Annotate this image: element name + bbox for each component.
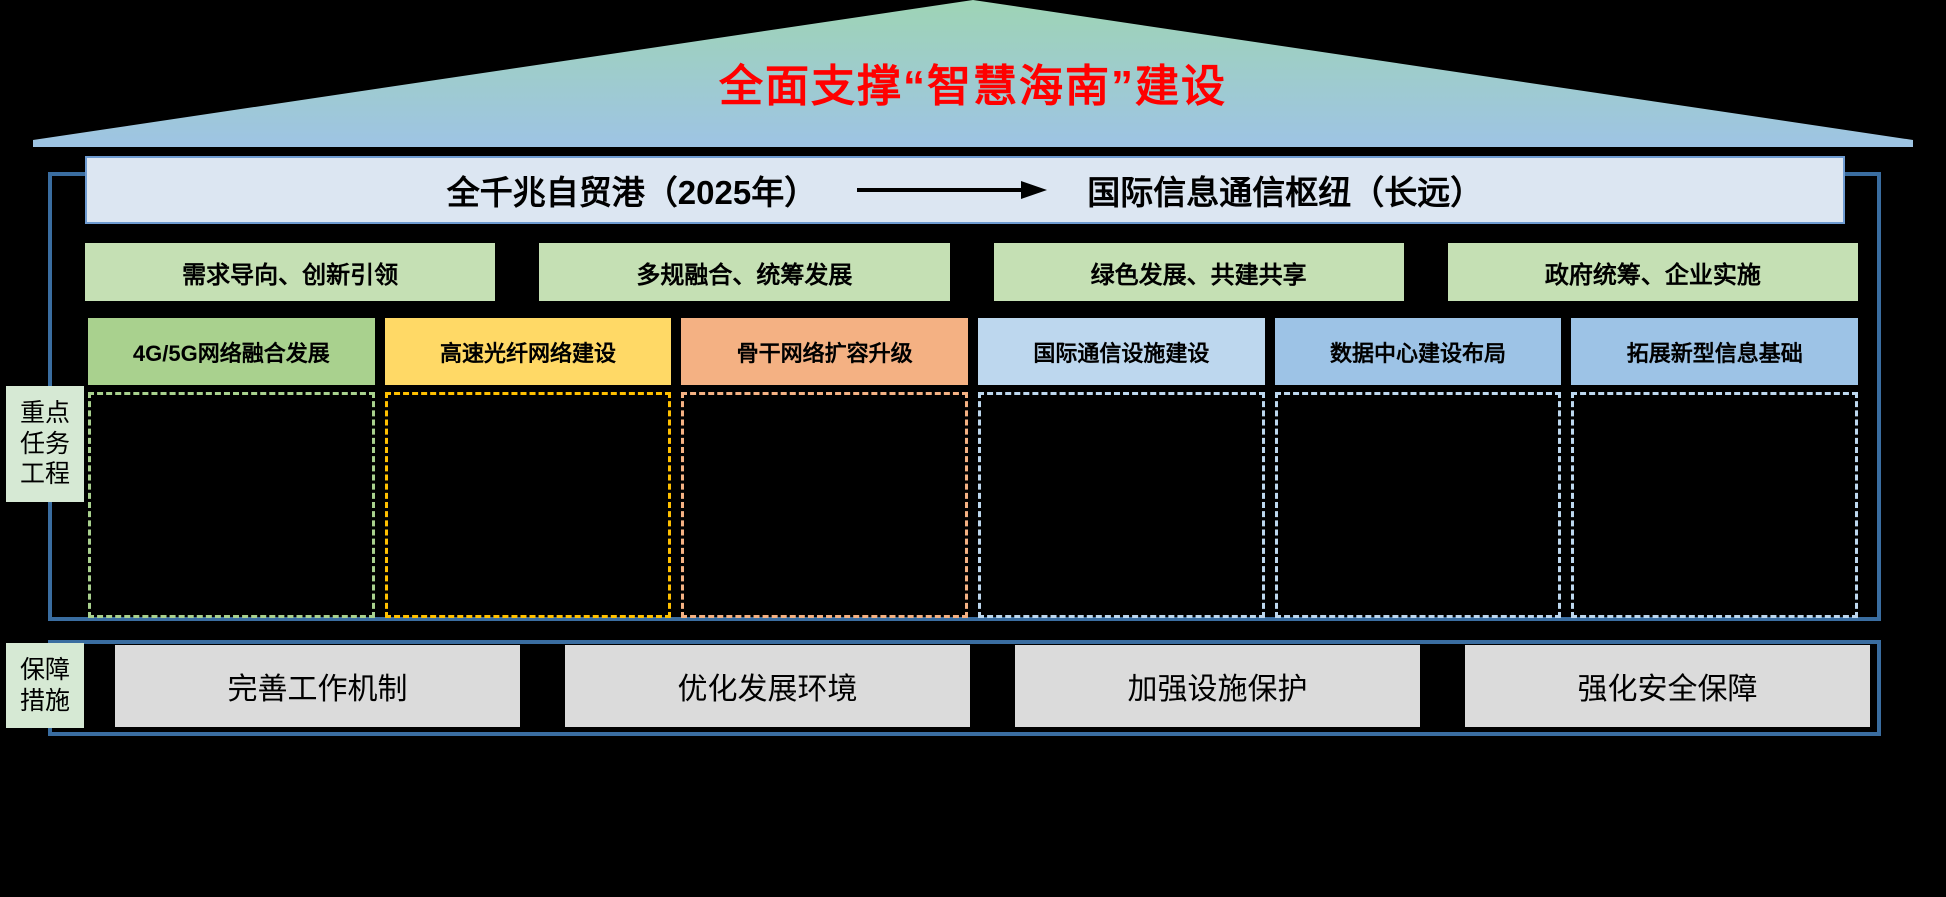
task-detail-area [1275, 392, 1562, 618]
right-arrow-icon [857, 179, 1047, 201]
principle-box: 多规融合、统筹发展 [539, 243, 949, 301]
task-detail-area [1571, 392, 1858, 618]
task-detail-area [978, 392, 1265, 618]
vision-band: 全千兆自贸港（2025年） 国际信息通信枢纽（长远） [85, 156, 1845, 224]
vision-right-text: 国际信息通信枢纽（长远） [1087, 166, 1483, 214]
measure-box[interactable]: 强化安全保障 [1465, 645, 1870, 727]
vision-left-text: 全千兆自贸港（2025年） [447, 166, 817, 214]
principle-box: 政府统筹、企业实施 [1448, 243, 1858, 301]
side-label-line: 工程 [20, 459, 70, 490]
side-label-line: 重点 [20, 398, 70, 429]
measure-box[interactable]: 完善工作机制 [115, 645, 520, 727]
side-label-line: 措施 [20, 686, 70, 717]
measure-box[interactable]: 优化发展环境 [565, 645, 970, 727]
roof-title: 全面支撑“智慧海南”建设 [33, 50, 1913, 114]
measures-row: 完善工作机制 优化发展环境 加强设施保护 强化安全保障 [115, 645, 1870, 727]
task-detail-area [681, 392, 968, 618]
task-column: 数据中心建设布局 [1275, 318, 1562, 618]
task-column: 国际通信设施建设 [978, 318, 1265, 618]
side-label-key-tasks: 重点 任务 工程 [6, 386, 84, 502]
task-header[interactable]: 4G/5G网络融合发展 [88, 318, 375, 385]
task-column: 高速光纤网络建设 [385, 318, 672, 618]
task-header[interactable]: 骨干网络扩容升级 [681, 318, 968, 385]
roof-shape: 全面支撑“智慧海南”建设 [33, 0, 1913, 160]
task-column: 拓展新型信息基础 [1571, 318, 1858, 618]
side-label-measures: 保障 措施 [6, 643, 84, 728]
tasks-row: 4G/5G网络融合发展 高速光纤网络建设 骨干网络扩容升级 国际通信设施建设 数… [88, 318, 1858, 618]
measure-box[interactable]: 加强设施保护 [1015, 645, 1420, 727]
diagram-canvas: 全面支撑“智慧海南”建设 全千兆自贸港（2025年） 国际信息通信枢纽（长远） … [0, 0, 1946, 897]
task-column: 4G/5G网络融合发展 [88, 318, 375, 618]
principles-row: 需求导向、创新引领 多规融合、统筹发展 绿色发展、共建共享 政府统筹、企业实施 [85, 243, 1858, 301]
side-label-line: 保障 [20, 655, 70, 686]
task-header[interactable]: 国际通信设施建设 [978, 318, 1265, 385]
task-column: 骨干网络扩容升级 [681, 318, 968, 618]
task-detail-area [385, 392, 672, 618]
task-detail-area [88, 392, 375, 618]
principle-box: 绿色发展、共建共享 [994, 243, 1404, 301]
task-header[interactable]: 高速光纤网络建设 [385, 318, 672, 385]
side-label-line: 任务 [20, 429, 70, 460]
principle-box: 需求导向、创新引领 [85, 243, 495, 301]
task-header[interactable]: 数据中心建设布局 [1275, 318, 1562, 385]
task-header[interactable]: 拓展新型信息基础 [1571, 318, 1858, 385]
